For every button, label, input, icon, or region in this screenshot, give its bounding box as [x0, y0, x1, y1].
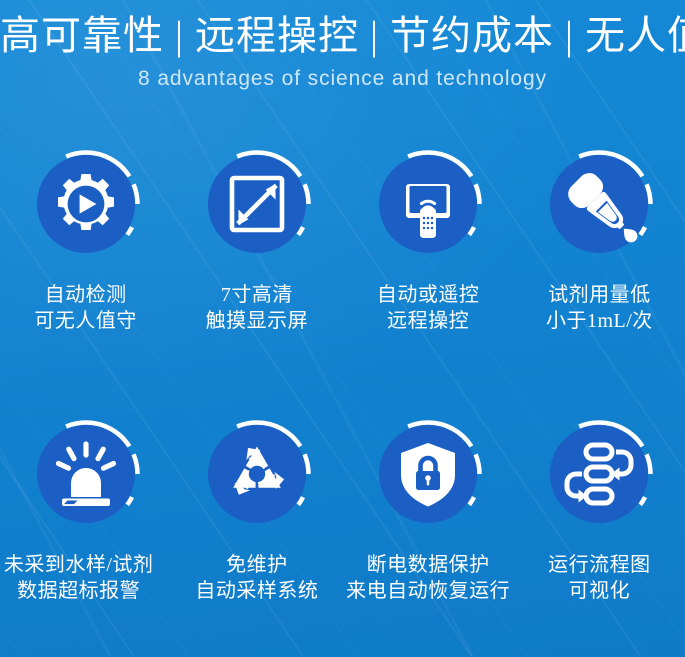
- feature-caption-4-line1: 试剂用量低: [548, 284, 651, 306]
- page-title: 高可靠性 | 远程操控 | 节约成本 | 无人值守: [0, 14, 685, 58]
- feature-badge-2: [201, 148, 313, 260]
- feature-caption-1: 自动检测 可无人值守: [34, 282, 137, 335]
- feature-item-5[interactable]: 未采到水样/试剂 数据超标报警: [0, 418, 171, 605]
- feature-caption-3: 自动或遥控 远程操控: [377, 282, 480, 335]
- feature-grid: 自动检测 可无人值守: [0, 148, 685, 657]
- feature-caption-4: 试剂用量低 小于1mL/次: [546, 282, 653, 335]
- feature-caption-5: 未采到水样/试剂 数据超标报警: [4, 552, 154, 605]
- feature-caption-1-line2: 可无人值守: [34, 308, 137, 334]
- expand-screen-icon: [201, 148, 313, 260]
- feature-item-2[interactable]: 7寸高清 触摸显示屏: [171, 148, 342, 335]
- feature-caption-8-line2: 可视化: [548, 578, 651, 604]
- feature-badge-5: [30, 418, 142, 530]
- feature-badge-6: [201, 418, 313, 530]
- feature-badge-7: [372, 418, 484, 530]
- feature-badge-3: [372, 148, 484, 260]
- feature-item-7[interactable]: 断电数据保护 来电自动恢复运行: [343, 418, 514, 605]
- pipette-dropper-icon: [543, 148, 655, 260]
- feature-caption-3-line1: 自动或遥控: [377, 284, 480, 306]
- feature-caption-2-line2: 触摸显示屏: [206, 308, 309, 334]
- feature-caption-6-line2: 自动采样系统: [195, 578, 318, 604]
- feature-item-8[interactable]: 运行流程图 可视化: [514, 418, 685, 605]
- gear-play-icon: [30, 148, 142, 260]
- alarm-siren-icon: [30, 418, 142, 530]
- feature-caption-6: 免维护 自动采样系统: [195, 552, 318, 605]
- feature-caption-4-line2: 小于1mL/次: [546, 308, 653, 334]
- feature-caption-5-line1: 未采到水样/试剂: [4, 554, 154, 576]
- feature-badge-4: [543, 148, 655, 260]
- feature-caption-2-line1: 7寸高清: [221, 284, 293, 306]
- feature-caption-6-line1: 免维护: [226, 554, 288, 576]
- shield-lock-icon: [372, 418, 484, 530]
- feature-badge-1: [30, 148, 142, 260]
- feature-caption-8: 运行流程图 可视化: [548, 552, 651, 605]
- feature-caption-3-line2: 远程操控: [377, 308, 480, 334]
- feature-caption-7-line2: 来电自动恢复运行: [346, 578, 510, 604]
- feature-caption-2: 7寸高清 触摸显示屏: [206, 282, 309, 335]
- feature-item-1[interactable]: 自动检测 可无人值守: [0, 148, 171, 335]
- feature-badge-8: [543, 418, 655, 530]
- feature-caption-5-line2: 数据超标报警: [4, 578, 154, 604]
- monitor-remote-wifi-icon: [372, 148, 484, 260]
- feature-caption-1-line1: 自动检测: [45, 284, 127, 306]
- poster-header: 高可靠性 | 远程操控 | 节约成本 | 无人值守 8 advantages o…: [0, 14, 685, 91]
- feature-caption-7-line1: 断电数据保护: [367, 554, 490, 576]
- feature-item-3[interactable]: 自动或遥控 远程操控: [343, 148, 514, 335]
- promo-poster: 高可靠性 | 远程操控 | 节约成本 | 无人值守 8 advantages o…: [0, 0, 685, 657]
- feature-item-4[interactable]: 试剂用量低 小于1mL/次: [514, 148, 685, 335]
- feature-caption-8-line1: 运行流程图: [548, 554, 651, 576]
- recycle-icon: [201, 418, 313, 530]
- page-subtitle: 8 advantages of science and technology: [0, 67, 685, 91]
- flowchart-loop-icon: [543, 418, 655, 530]
- feature-item-6[interactable]: 免维护 自动采样系统: [171, 418, 342, 605]
- feature-caption-7: 断电数据保护 来电自动恢复运行: [346, 552, 510, 605]
